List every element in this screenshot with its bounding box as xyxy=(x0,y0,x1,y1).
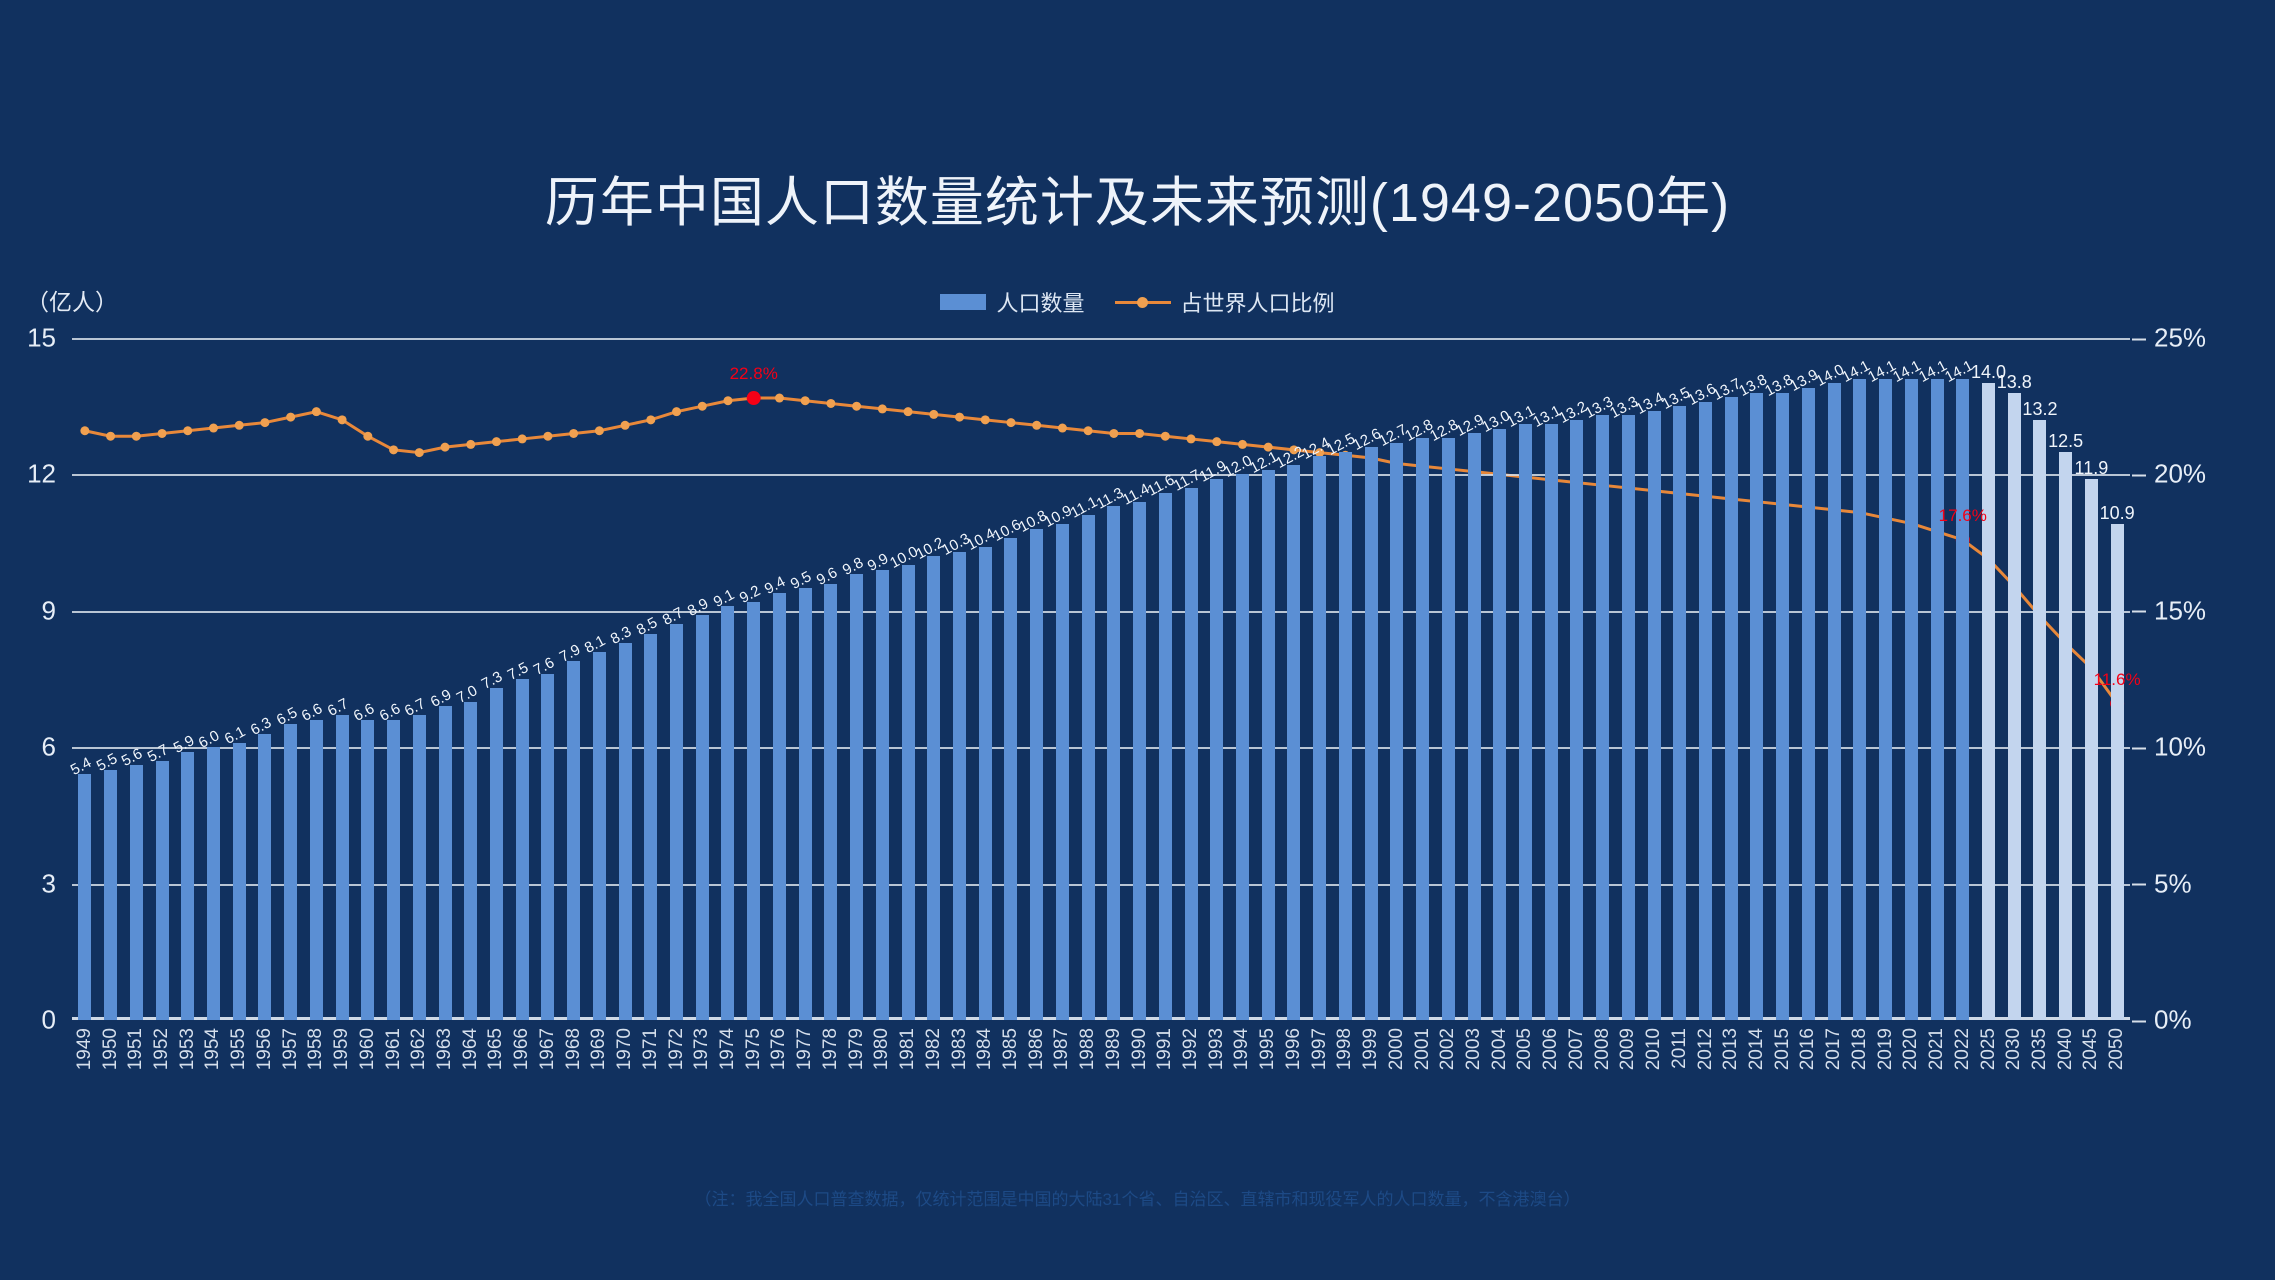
gridline xyxy=(72,884,2130,886)
x-axis-tick-label: 1996 xyxy=(1283,1028,1305,1070)
bar-actual[interactable]: 5.4 xyxy=(78,774,91,1020)
bar-actual[interactable]: 8.1 xyxy=(593,652,606,1020)
line-marker[interactable] xyxy=(852,402,861,411)
y-axis-tick-right: 10% xyxy=(2154,732,2206,763)
x-axis-tick-label: 2002 xyxy=(1437,1028,1459,1070)
x-axis-tick-label: 1985 xyxy=(1000,1028,1022,1070)
x-axis-tick-label: 1990 xyxy=(1129,1028,1151,1070)
y-axis-unit-label: （亿人） xyxy=(26,283,118,317)
x-axis-tick-label: 2001 xyxy=(1412,1028,1434,1070)
line-marker[interactable] xyxy=(1058,424,1067,433)
x-axis-tick-label: 2010 xyxy=(1643,1028,1665,1070)
bar-actual[interactable]: 13.0 xyxy=(1493,429,1506,1020)
gridline xyxy=(72,611,2130,613)
x-axis-tick-label: 2045 xyxy=(2080,1028,2102,1070)
bar-actual[interactable]: 12.6 xyxy=(1365,447,1378,1020)
x-axis-tick-label: 1958 xyxy=(305,1028,327,1070)
x-axis-tick-label: 2050 xyxy=(2106,1028,2128,1070)
line-marker[interactable] xyxy=(260,418,269,427)
line-marker[interactable] xyxy=(621,421,630,430)
x-axis-tick-label: 1999 xyxy=(1360,1028,1382,1070)
x-axis-tick-label: 1978 xyxy=(820,1028,842,1070)
x-axis-tick-label: 1969 xyxy=(588,1028,610,1070)
x-axis-tick-label: 1980 xyxy=(871,1028,893,1070)
x-axis-tick-label: 1992 xyxy=(1180,1028,1202,1070)
x-axis-tick-label: 1972 xyxy=(666,1028,688,1070)
x-axis-tick-label: 1976 xyxy=(768,1028,790,1070)
y-axis-tick-left: 9 xyxy=(42,595,56,626)
x-axis-tick-label: 1982 xyxy=(923,1028,945,1070)
x-axis-tick-label: 2003 xyxy=(1463,1028,1485,1070)
line-marker[interactable] xyxy=(826,399,835,408)
bar-actual[interactable]: 6.6 xyxy=(387,720,400,1020)
x-axis-tick-label: 2040 xyxy=(2055,1028,2077,1070)
x-axis-tick-label: 1979 xyxy=(846,1028,868,1070)
bar-actual[interactable]: 14.1 xyxy=(1905,379,1918,1020)
x-axis-tick-label: 1965 xyxy=(485,1028,507,1070)
x-axis-tick-label: 1953 xyxy=(177,1028,199,1070)
x-axis-tick-label: 1963 xyxy=(434,1028,456,1070)
x-axis-tick-label: 2018 xyxy=(1849,1028,1871,1070)
chart-root: 历年中国人口数量统计及未来预测(1949-2050年) （亿人） 人口数量 占世… xyxy=(0,0,2275,1280)
line-marker[interactable] xyxy=(646,415,655,424)
legend-item-world-share[interactable]: 占世界人口比例 xyxy=(1115,286,1335,318)
bar-actual[interactable]: 5.6 xyxy=(130,765,143,1020)
x-axis-tick-label: 2022 xyxy=(1952,1028,1974,1070)
x-axis-tick-label: 1955 xyxy=(228,1028,250,1070)
line-marker[interactable] xyxy=(441,443,450,452)
gridline xyxy=(72,338,2130,340)
x-axis-tick-label: 1961 xyxy=(383,1028,405,1070)
x-axis-tick-label: 1997 xyxy=(1309,1028,1331,1070)
x-axis-tick-label: 1975 xyxy=(743,1028,765,1070)
y-axis-tick-right: 20% xyxy=(2154,459,2206,490)
x-axis-tick-label: 1960 xyxy=(357,1028,379,1070)
bar-actual[interactable]: 13.8 xyxy=(1776,393,1789,1020)
bar-actual[interactable]: 12.2 xyxy=(1287,465,1300,1020)
line-swatch-icon xyxy=(1115,294,1171,310)
bar-forecast[interactable]: 14.0 xyxy=(1982,383,1995,1020)
y-axis-tick-right: 5% xyxy=(2154,868,2192,899)
x-axis-tick-label: 1968 xyxy=(563,1028,585,1070)
x-axis-tick-label: 2025 xyxy=(1978,1028,2000,1070)
x-axis-tick-label: 2013 xyxy=(1720,1028,1742,1070)
x-axis-tick-label: 1951 xyxy=(125,1028,147,1070)
bar-actual[interactable]: 9.9 xyxy=(876,570,889,1020)
bar-actual[interactable]: 11.3 xyxy=(1107,506,1120,1020)
bar-actual[interactable]: 6.5 xyxy=(284,724,297,1020)
bar-actual[interactable]: 8.7 xyxy=(670,624,683,1020)
y-axis-tick-left: 0 xyxy=(42,1005,56,1036)
bar-actual[interactable]: 12.4 xyxy=(1313,456,1326,1020)
bar-actual[interactable]: 6.0 xyxy=(207,747,220,1020)
bar-actual[interactable]: 13.1 xyxy=(1545,424,1558,1020)
line-marker[interactable] xyxy=(492,437,501,446)
y-axis-tick-right: 25% xyxy=(2154,323,2206,354)
bar-actual[interactable]: 13.8 xyxy=(1750,393,1763,1020)
x-axis-tick-label: 2035 xyxy=(2029,1028,2051,1070)
x-axis-tick-label: 1970 xyxy=(614,1028,636,1070)
bar-actual[interactable]: 13.6 xyxy=(1699,402,1712,1020)
y-axis-tick-left: 3 xyxy=(42,868,56,899)
x-axis-tick-label: 2014 xyxy=(1746,1028,1768,1070)
bar-actual[interactable]: 5.9 xyxy=(181,752,194,1020)
line-value-annotation: 17.6% xyxy=(1939,506,1987,526)
line-marker[interactable] xyxy=(415,448,424,457)
y-axis-tick-left: 6 xyxy=(42,732,56,763)
bar-forecast[interactable]: 10.9 xyxy=(2111,524,2124,1020)
bar-actual[interactable]: 7.5 xyxy=(516,679,529,1020)
line-marker[interactable] xyxy=(904,407,913,416)
line-marker[interactable] xyxy=(698,402,707,411)
x-axis-tick-label: 1950 xyxy=(100,1028,122,1070)
x-axis-tick-label: 2009 xyxy=(1617,1028,1639,1070)
bar-value-label: 13.8 xyxy=(1997,372,2032,393)
x-axis-tick-label: 1991 xyxy=(1154,1028,1176,1070)
bar-actual[interactable]: 12.1 xyxy=(1262,470,1275,1020)
line-marker[interactable] xyxy=(929,410,938,419)
x-axis-tick-label: 1989 xyxy=(1103,1028,1125,1070)
bar-actual[interactable]: 9.6 xyxy=(824,584,837,1020)
line-marker[interactable] xyxy=(286,413,295,422)
x-axis-tick-label: 2006 xyxy=(1540,1028,1562,1070)
line-marker[interactable] xyxy=(1238,440,1247,449)
x-axis-tick-label: 2000 xyxy=(1386,1028,1408,1070)
line-value-annotation: 11.6% xyxy=(2094,670,2141,690)
bar-actual[interactable]: 6.1 xyxy=(233,743,246,1020)
x-axis-tick-label: 1987 xyxy=(1051,1028,1073,1070)
line-marker[interactable] xyxy=(1161,432,1170,441)
bar-actual[interactable]: 11.4 xyxy=(1133,502,1146,1020)
bar-actual[interactable]: 7.3 xyxy=(490,688,503,1020)
x-axis-tick-label: 1977 xyxy=(794,1028,816,1070)
bar-actual[interactable]: 9.8 xyxy=(850,574,863,1020)
x-axis-tick-label: 2030 xyxy=(2003,1028,2025,1070)
x-axis-tick-label: 2004 xyxy=(1489,1028,1511,1070)
bar-actual[interactable]: 7.0 xyxy=(464,702,477,1020)
line-marker[interactable] xyxy=(1187,434,1196,443)
world-share-line xyxy=(72,338,2130,1020)
bar-actual[interactable]: 12.8 xyxy=(1442,438,1455,1020)
x-axis-tick-label: 1974 xyxy=(717,1028,739,1070)
bar-actual[interactable]: 14.1 xyxy=(1853,379,1866,1020)
line-marker[interactable] xyxy=(338,415,347,424)
line-marker[interactable] xyxy=(80,426,89,435)
bar-actual[interactable]: 13.9 xyxy=(1802,388,1815,1020)
y-axis-tick-left: 12 xyxy=(27,459,56,490)
bar-actual[interactable]: 8.9 xyxy=(696,615,709,1020)
x-axis-tick-label: 1995 xyxy=(1257,1028,1279,1070)
bar-actual[interactable]: 14.1 xyxy=(1931,379,1944,1020)
line-marker-highlight[interactable] xyxy=(747,391,761,405)
line-marker[interactable] xyxy=(518,434,527,443)
bar-value-label: 11.9 xyxy=(2075,458,2109,479)
bar-forecast[interactable]: 12.5 xyxy=(2059,452,2072,1020)
line-marker[interactable] xyxy=(209,424,218,433)
x-axis-tick-label: 1993 xyxy=(1206,1028,1228,1070)
bar-actual[interactable]: 6.7 xyxy=(336,715,349,1020)
line-marker[interactable] xyxy=(363,432,372,441)
x-axis-tick-label: 1967 xyxy=(537,1028,559,1070)
bar-actual[interactable]: 9.5 xyxy=(799,588,812,1020)
x-axis-tick-label: 1966 xyxy=(511,1028,533,1070)
plot-area: 036912150%5%10%15%20%25%5.45.55.65.75.96… xyxy=(72,338,2130,1020)
x-axis-tick-label: 1954 xyxy=(202,1028,224,1070)
x-axis-tick-label: 1973 xyxy=(691,1028,713,1070)
line-marker[interactable] xyxy=(389,445,398,454)
line-marker[interactable] xyxy=(235,421,244,430)
bar-actual[interactable]: 9.1 xyxy=(721,606,734,1020)
line-marker[interactable] xyxy=(132,432,141,441)
bar-forecast[interactable]: 13.2 xyxy=(2033,420,2046,1020)
line-marker[interactable] xyxy=(801,396,810,405)
x-axis-tick-label: 2008 xyxy=(1592,1028,1614,1070)
line-marker[interactable] xyxy=(981,415,990,424)
bar-value-label: 13.2 xyxy=(2022,399,2057,420)
bar-actual[interactable]: 11.9 xyxy=(1210,479,1223,1020)
bar-actual[interactable]: 10.4 xyxy=(979,547,992,1020)
bar-actual[interactable]: 5.7 xyxy=(156,761,169,1020)
line-marker[interactable] xyxy=(569,429,578,438)
bar-actual[interactable]: 13.5 xyxy=(1673,406,1686,1020)
gridline xyxy=(72,747,2130,749)
bar-actual[interactable]: 10.6 xyxy=(1004,538,1017,1020)
legend-label-population: 人口数量 xyxy=(996,286,1084,318)
bar-actual[interactable]: 10.9 xyxy=(1056,524,1069,1020)
x-axis-tick-label: 2017 xyxy=(1823,1028,1845,1070)
x-axis-tick-label: 2020 xyxy=(1900,1028,1922,1070)
line-marker[interactable] xyxy=(106,432,115,441)
bar-actual[interactable]: 12.9 xyxy=(1468,433,1481,1020)
x-axis-tick-label: 1962 xyxy=(408,1028,430,1070)
bar-actual[interactable]: 6.7 xyxy=(413,715,426,1020)
line-marker[interactable] xyxy=(543,432,552,441)
bar-forecast[interactable]: 11.9 xyxy=(2085,479,2098,1020)
x-axis-baseline xyxy=(72,1017,2130,1020)
bar-actual[interactable]: 12.7 xyxy=(1390,443,1403,1020)
x-axis-tick-label: 2019 xyxy=(1875,1028,1897,1070)
bar-actual[interactable]: 13.4 xyxy=(1648,411,1661,1020)
bar-actual[interactable]: 13.3 xyxy=(1622,415,1635,1020)
bar-actual[interactable]: 6.3 xyxy=(258,734,271,1020)
bar-actual[interactable]: 14.1 xyxy=(1879,379,1892,1020)
x-axis-tick-label: 1998 xyxy=(1334,1028,1356,1070)
bar-actual[interactable]: 10.8 xyxy=(1030,529,1043,1020)
line-marker[interactable] xyxy=(466,440,475,449)
x-axis-tick-label: 1964 xyxy=(460,1028,482,1070)
footnote: （注：我全国人口普查数据，仅统计范围是中国的大陆31个省、自治区、直辖市和现役军… xyxy=(0,1185,2275,1210)
bar-actual[interactable]: 14.0 xyxy=(1828,383,1841,1020)
bar-actual[interactable]: 6.9 xyxy=(439,706,452,1020)
bar-value-label: 12.5 xyxy=(2048,431,2083,452)
line-marker[interactable] xyxy=(955,413,964,422)
line-marker[interactable] xyxy=(1109,429,1118,438)
line-marker[interactable] xyxy=(672,407,681,416)
bar-actual[interactable]: 7.9 xyxy=(567,661,580,1020)
x-axis-tick-label: 2005 xyxy=(1514,1028,1536,1070)
bar-actual[interactable]: 10.2 xyxy=(927,556,940,1020)
bar-actual[interactable]: 10.0 xyxy=(902,565,915,1020)
x-axis-tick-label: 1957 xyxy=(280,1028,302,1070)
x-axis-tick-label: 1959 xyxy=(331,1028,353,1070)
bar-actual[interactable]: 13.7 xyxy=(1725,397,1738,1020)
x-axis-tick-label: 1971 xyxy=(640,1028,662,1070)
bar-actual[interactable]: 6.6 xyxy=(361,720,374,1020)
line-value-annotation: 22.8% xyxy=(730,364,778,384)
bar-swatch-icon xyxy=(940,294,986,310)
line-marker[interactable] xyxy=(595,426,604,435)
bar-actual[interactable]: 5.5 xyxy=(104,770,117,1020)
bar-actual[interactable]: 12.0 xyxy=(1236,474,1249,1020)
line-marker[interactable] xyxy=(878,404,887,413)
bar-forecast[interactable]: 13.8 xyxy=(2008,393,2021,1020)
line-marker[interactable] xyxy=(723,396,732,405)
chart-legend: 人口数量 占世界人口比例 xyxy=(0,286,2275,318)
line-marker[interactable] xyxy=(1006,418,1015,427)
x-axis-tick-label: 2016 xyxy=(1797,1028,1819,1070)
x-axis-tick-label: 1986 xyxy=(1026,1028,1048,1070)
x-axis-tick-label: 1988 xyxy=(1077,1028,1099,1070)
line-marker[interactable] xyxy=(1032,421,1041,430)
bar-actual[interactable]: 8.5 xyxy=(644,634,657,1020)
bar-actual[interactable]: 11.1 xyxy=(1082,515,1095,1020)
bar-value-label: 10.9 xyxy=(2100,503,2135,524)
x-axis-tick-label: 2012 xyxy=(1695,1028,1717,1070)
bar-actual[interactable]: 7.6 xyxy=(541,674,554,1020)
line-marker[interactable] xyxy=(183,426,192,435)
bar-actual[interactable]: 9.4 xyxy=(773,593,786,1020)
line-marker[interactable] xyxy=(312,407,321,416)
bar-actual[interactable]: 10.3 xyxy=(953,552,966,1020)
bar-actual[interactable]: 13.3 xyxy=(1596,415,1609,1020)
x-axis-tick-label: 1983 xyxy=(949,1028,971,1070)
x-axis-tick-label: 2015 xyxy=(1772,1028,1794,1070)
x-axis-tick-label: 2007 xyxy=(1566,1028,1588,1070)
x-axis-tick-label: 2021 xyxy=(1926,1028,1948,1070)
line-marker[interactable] xyxy=(1135,429,1144,438)
x-axis-tick-label: 1981 xyxy=(897,1028,919,1070)
line-marker[interactable] xyxy=(158,429,167,438)
bar-actual[interactable]: 13.1 xyxy=(1519,424,1532,1020)
x-axis-tick-label: 1949 xyxy=(74,1028,96,1070)
bar-actual[interactable]: 9.2 xyxy=(747,602,760,1020)
x-axis-tick-label: 1952 xyxy=(151,1028,173,1070)
bar-actual[interactable]: 13.2 xyxy=(1570,420,1583,1020)
line-marker[interactable] xyxy=(775,394,784,403)
x-axis-tick-label: 1956 xyxy=(254,1028,276,1070)
bar-actual[interactable]: 11.7 xyxy=(1185,488,1198,1020)
bar-actual[interactable]: 12.5 xyxy=(1339,452,1352,1020)
bar-actual[interactable]: 12.8 xyxy=(1416,438,1429,1020)
legend-item-population[interactable]: 人口数量 xyxy=(940,286,1084,318)
x-axis-tick-label: 1994 xyxy=(1231,1028,1253,1070)
y-axis-tick-right: 15% xyxy=(2154,595,2206,626)
y-axis-tick-right: 0% xyxy=(2154,1005,2192,1036)
legend-label-world-share: 占世界人口比例 xyxy=(1181,286,1335,318)
bar-actual[interactable]: 14.1 xyxy=(1956,379,1969,1020)
x-axis-tick-label: 2011 xyxy=(1669,1028,1691,1069)
line-marker[interactable] xyxy=(1212,437,1221,446)
bar-actual[interactable]: 11.6 xyxy=(1159,493,1172,1020)
gridline xyxy=(72,474,2130,476)
y-axis-tick-left: 15 xyxy=(27,323,56,354)
bar-actual[interactable]: 6.6 xyxy=(310,720,323,1020)
bar-actual[interactable]: 8.3 xyxy=(619,643,632,1020)
line-marker[interactable] xyxy=(1084,426,1093,435)
x-axis-tick-label: 1984 xyxy=(974,1028,996,1070)
page-title: 历年中国人口数量统计及未来预测(1949-2050年) xyxy=(0,158,2275,237)
